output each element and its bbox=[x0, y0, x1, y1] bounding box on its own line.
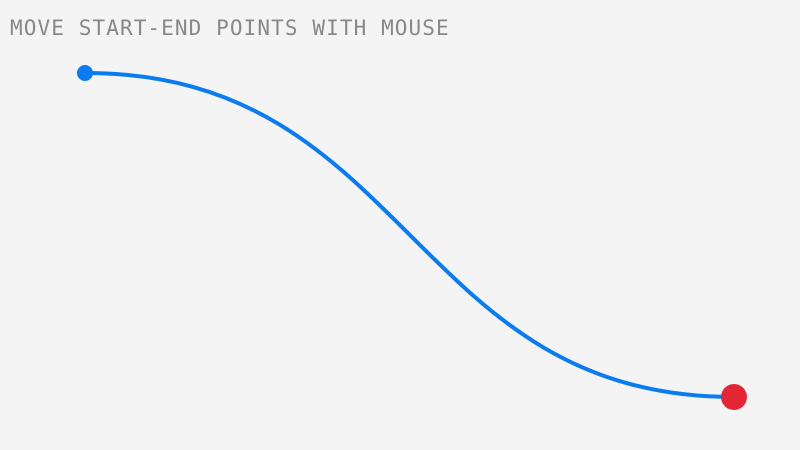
start-point-handle[interactable] bbox=[77, 65, 93, 81]
page-title: MOVE START-END POINTS WITH MOUSE bbox=[10, 15, 450, 41]
curve-canvas-svg[interactable] bbox=[0, 0, 800, 450]
drawing-canvas[interactable]: MOVE START-END POINTS WITH MOUSE bbox=[0, 0, 800, 450]
end-point-handle[interactable] bbox=[721, 384, 747, 410]
bezier-demo-app: MOVE START-END POINTS WITH MOUSE bbox=[0, 0, 800, 450]
